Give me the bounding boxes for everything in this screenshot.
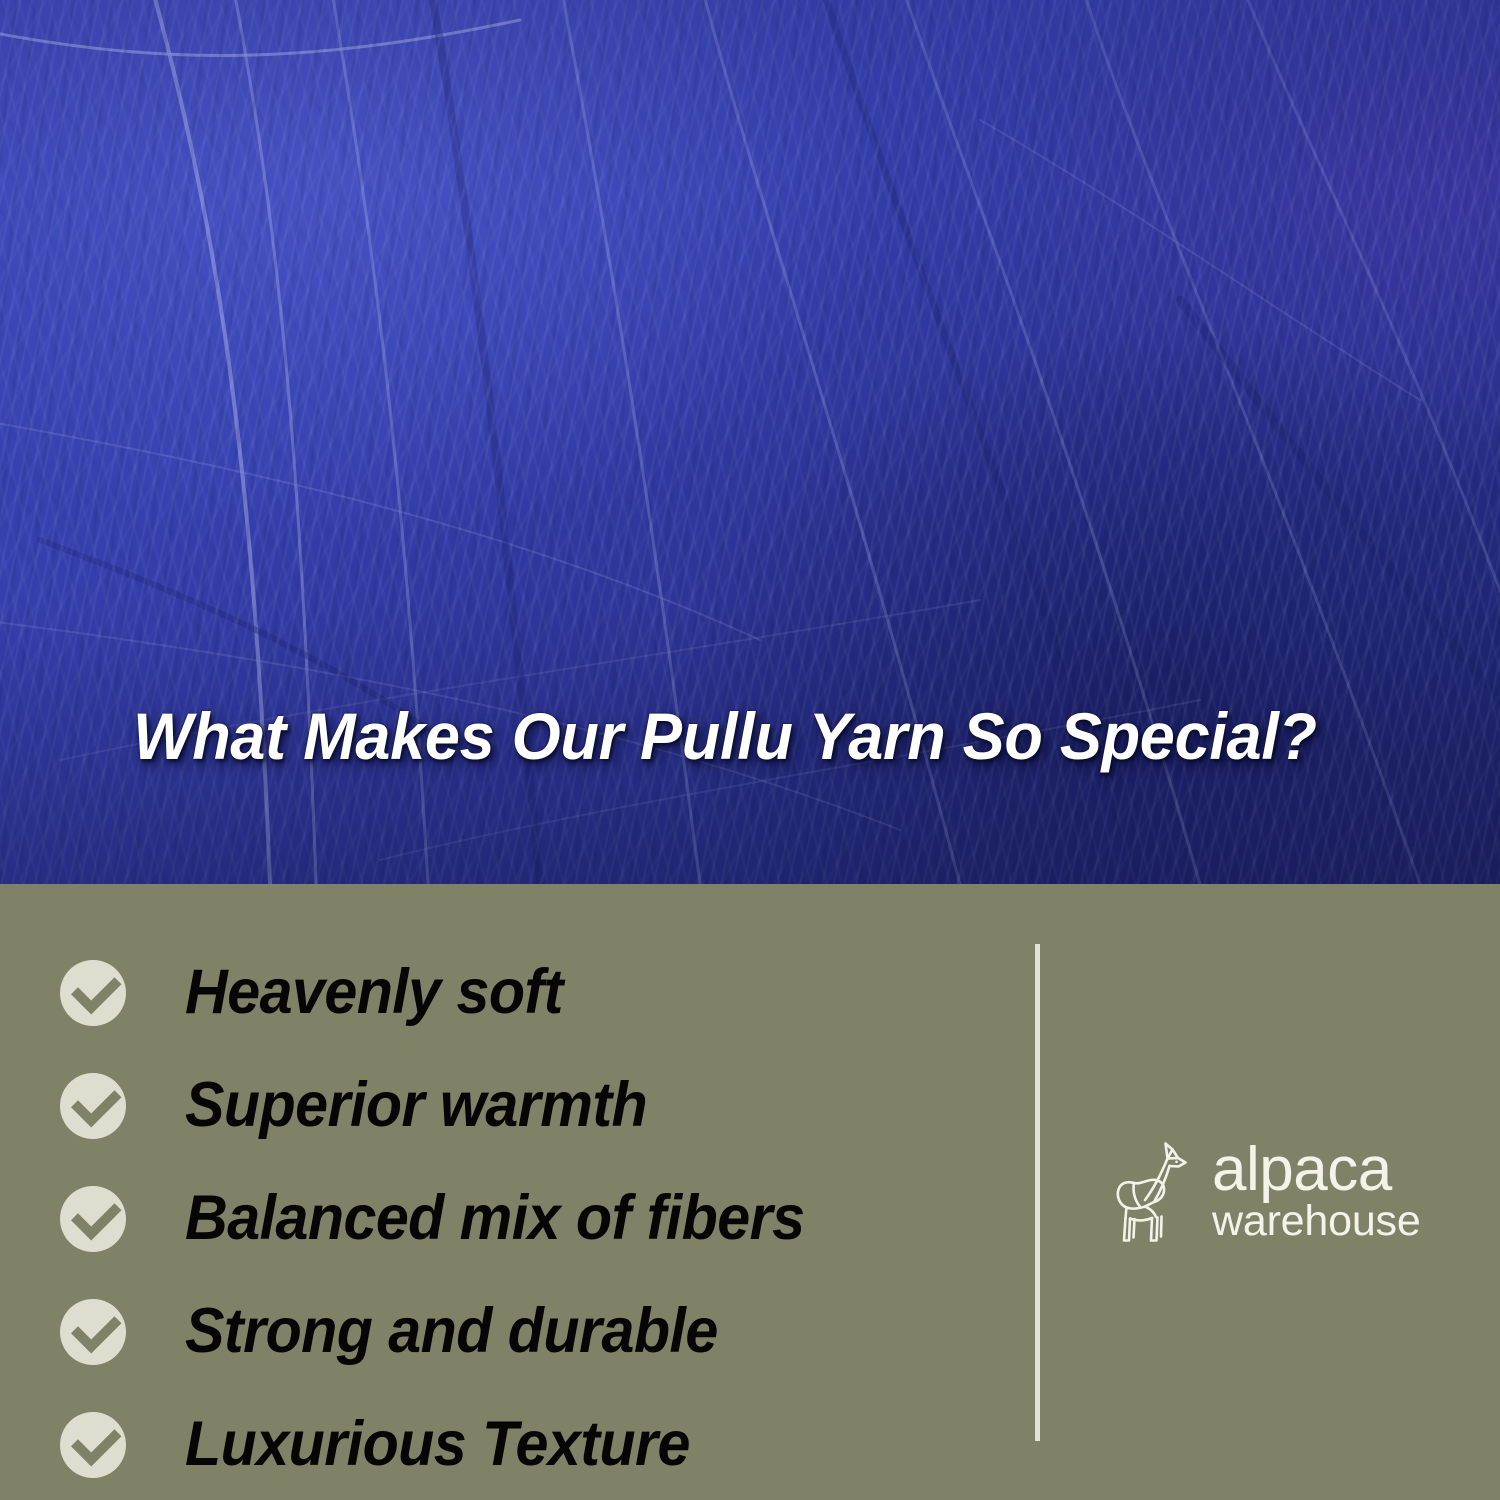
list-item: Heavenly soft [60, 936, 960, 1049]
check-circle-icon [60, 1412, 126, 1478]
brand-name-secondary: warehouse [1212, 1200, 1421, 1244]
list-item: Superior warmth [60, 1049, 960, 1162]
brand-logo: alpaca warehouse [1108, 1136, 1421, 1254]
check-circle-icon [60, 1299, 126, 1365]
check-circle-icon [60, 1073, 126, 1139]
list-item: Balanced mix of fibers [60, 1162, 960, 1275]
product-feature-card: What Makes Our Pullu Yarn So Special? He… [0, 0, 1500, 1500]
features-panel: Heavenly soft Superior warmth Balanced m… [0, 884, 1500, 1500]
feature-label: Superior warmth [185, 1074, 647, 1137]
vertical-divider [1035, 944, 1040, 1441]
feature-label: Luxurious Texture [185, 1413, 690, 1476]
check-circle-icon [60, 1186, 126, 1252]
feature-label: Heavenly soft [185, 961, 563, 1024]
brand-name-primary: alpaca [1212, 1146, 1421, 1194]
hero-yarn-photo: What Makes Our Pullu Yarn So Special? [0, 0, 1500, 884]
feature-label: Balanced mix of fibers [185, 1187, 804, 1250]
page-title: What Makes Our Pullu Yarn So Special? [133, 703, 1375, 769]
list-item: Luxurious Texture [60, 1388, 960, 1500]
feature-list: Heavenly soft Superior warmth Balanced m… [60, 936, 960, 1500]
brand-wordmark: alpaca warehouse [1212, 1146, 1421, 1244]
feature-label: Strong and durable [185, 1300, 718, 1363]
check-circle-icon [60, 960, 126, 1026]
list-item: Strong and durable [60, 1275, 960, 1388]
alpaca-line-art-icon [1108, 1136, 1196, 1254]
